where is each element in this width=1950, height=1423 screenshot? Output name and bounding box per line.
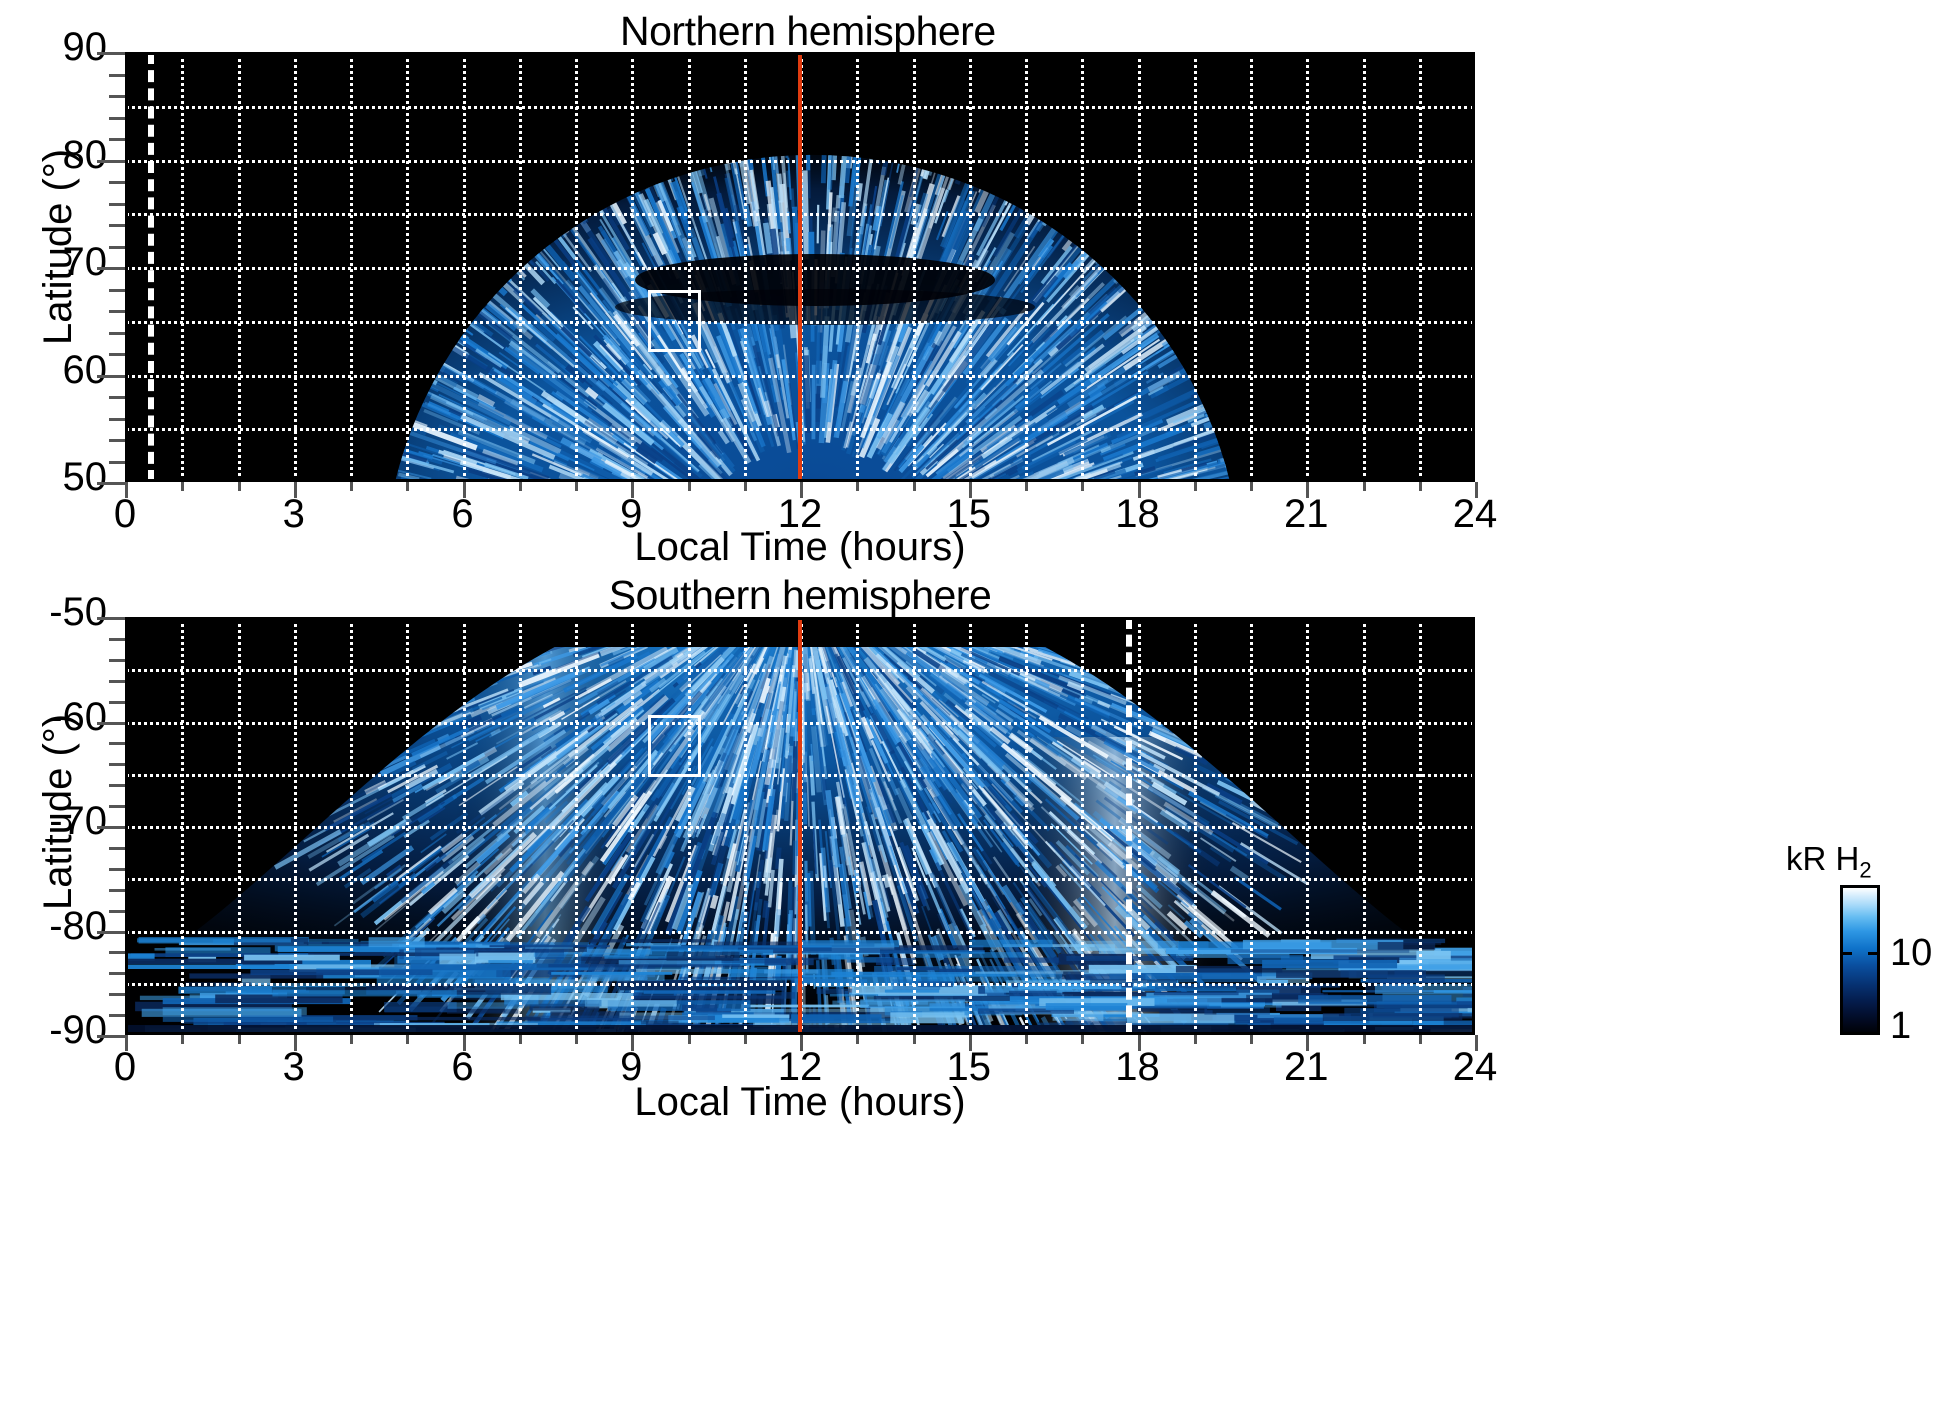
xtick-mark: [913, 1035, 916, 1044]
ytick-label: -50: [0, 590, 107, 635]
xtick-mark: [1419, 482, 1422, 491]
heatmap-south: [125, 617, 1475, 1035]
xtick-mark: [1194, 1035, 1197, 1044]
colorbar-title-subscript: 2: [1859, 858, 1871, 883]
ytick-mark: [109, 289, 125, 292]
ytick-mark: [109, 74, 125, 77]
ytick-mark: [109, 910, 125, 913]
xtick-mark: [969, 482, 972, 498]
ytick-mark: [109, 461, 125, 464]
xtick-mark: [181, 482, 184, 491]
xtick-mark: [1250, 482, 1253, 491]
xtick-label: 0: [65, 492, 185, 537]
ytick-mark: [97, 931, 125, 934]
colorbar-title: kR H2: [1786, 840, 1872, 884]
xtick-mark: [181, 1035, 184, 1044]
xtick-mark: [519, 1035, 522, 1044]
ytick-mark: [109, 784, 125, 787]
ytick-mark: [97, 1035, 125, 1038]
ytick-mark: [109, 332, 125, 335]
colorbar-tick-major: [1840, 952, 1852, 955]
xtick-label: 24: [1415, 1045, 1535, 1090]
xtick-mark: [1025, 482, 1028, 491]
marker-line-dashed-north: [148, 52, 154, 482]
xtick-mark: [631, 1035, 634, 1051]
xtick-label: 3: [234, 492, 354, 537]
xtick-mark: [631, 482, 634, 498]
roi-box-south: [648, 715, 701, 777]
xtick-label: 21: [1246, 1045, 1366, 1090]
xtick-mark: [1081, 482, 1084, 491]
ytick-mark: [109, 353, 125, 356]
ylabel-north: Latitude (°): [36, 149, 81, 345]
colorbar-title-text: kR H: [1786, 840, 1859, 877]
ytick-mark: [97, 722, 125, 725]
xtick-label: 6: [403, 1045, 523, 1090]
ytick-mark: [97, 826, 125, 829]
ylabel-south: Latitude (°): [36, 714, 81, 910]
ytick-label: 60: [0, 348, 107, 393]
xtick-mark: [1138, 482, 1141, 498]
xlabel-south: Local Time (hours): [590, 1080, 1010, 1125]
xtick-mark: [125, 482, 128, 498]
ytick-mark: [109, 889, 125, 892]
xtick-mark: [1475, 1035, 1478, 1051]
xtick-label: 21: [1246, 492, 1366, 537]
xtick-mark: [1025, 1035, 1028, 1044]
xtick-mark: [575, 482, 578, 491]
xtick-label: 18: [1078, 1045, 1198, 1090]
ytick-mark: [109, 868, 125, 871]
xtick-label: 3: [234, 1045, 354, 1090]
xtick-mark: [800, 482, 803, 498]
ytick-mark: [109, 396, 125, 399]
xtick-mark: [125, 1035, 128, 1051]
xtick-mark: [294, 1035, 297, 1051]
xtick-mark: [575, 1035, 578, 1044]
ytick-mark: [109, 224, 125, 227]
xtick-mark: [1419, 1035, 1422, 1044]
ytick-mark: [109, 1014, 125, 1017]
ytick-mark: [109, 847, 125, 850]
marker-line-dashed-south: [1126, 617, 1132, 1035]
roi-box-north: [648, 290, 701, 352]
ytick-mark: [109, 638, 125, 641]
xtick-mark: [1363, 482, 1366, 491]
marker-line-noon-north: [798, 52, 802, 482]
xtick-mark: [406, 1035, 409, 1044]
ytick-mark: [109, 805, 125, 808]
xtick-mark: [688, 1035, 691, 1044]
xtick-mark: [1306, 482, 1309, 498]
ytick-mark: [109, 439, 125, 442]
marker-line-noon-south: [798, 617, 802, 1035]
panel-title-north: Northern hemisphere: [620, 8, 980, 55]
ytick-mark: [109, 95, 125, 98]
colorbar-gradient: [1840, 885, 1880, 1035]
panel-title-south: Southern hemisphere: [600, 572, 1000, 619]
xtick-mark: [350, 482, 353, 491]
xtick-label: 0: [65, 1045, 185, 1090]
xtick-mark: [519, 482, 522, 491]
xtick-mark: [238, 1035, 241, 1044]
xtick-mark: [1475, 482, 1478, 498]
xtick-mark: [913, 482, 916, 491]
xtick-mark: [1250, 1035, 1253, 1044]
ytick-label: -80: [0, 904, 107, 949]
xtick-mark: [1081, 1035, 1084, 1044]
xtick-label: 6: [403, 492, 523, 537]
xtick-mark: [294, 482, 297, 498]
xtick-mark: [350, 1035, 353, 1044]
xtick-mark: [688, 482, 691, 491]
xtick-mark: [744, 1035, 747, 1044]
ytick-mark: [109, 742, 125, 745]
colorbar-tick-label-1: 1: [1890, 1005, 1911, 1048]
xtick-mark: [406, 482, 409, 491]
colorbar-tick-label-10: 10: [1890, 932, 1932, 975]
xtick-mark: [463, 1035, 466, 1051]
xtick-mark: [1194, 482, 1197, 491]
heatmap-north: [125, 52, 1475, 482]
ytick-mark: [97, 267, 125, 270]
ytick-mark: [109, 763, 125, 766]
ytick-label: 90: [0, 25, 107, 70]
ytick-mark: [109, 246, 125, 249]
ytick-mark: [97, 482, 125, 485]
colorbar-tick-major-right: [1868, 952, 1880, 955]
ytick-mark: [109, 972, 125, 975]
xtick-mark: [463, 482, 466, 498]
ytick-mark: [109, 951, 125, 954]
ytick-mark: [109, 117, 125, 120]
xtick-mark: [969, 1035, 972, 1051]
ytick-mark: [109, 701, 125, 704]
ytick-mark: [97, 617, 125, 620]
ytick-mark: [109, 181, 125, 184]
ytick-mark: [109, 310, 125, 313]
xtick-mark: [1363, 1035, 1366, 1044]
ytick-mark: [109, 659, 125, 662]
ytick-mark: [97, 52, 125, 55]
ytick-mark: [109, 203, 125, 206]
ytick-mark: [109, 418, 125, 421]
xtick-mark: [1306, 1035, 1309, 1051]
figure-root: Northern hemisphere: [0, 0, 1950, 1423]
xtick-label: 24: [1415, 492, 1535, 537]
ytick-mark: [109, 680, 125, 683]
xtick-mark: [856, 482, 859, 491]
xlabel-north: Local Time (hours): [590, 525, 1010, 570]
xtick-mark: [744, 482, 747, 491]
ytick-mark: [97, 375, 125, 378]
xtick-mark: [856, 1035, 859, 1044]
xtick-mark: [800, 1035, 803, 1051]
ytick-mark: [97, 160, 125, 163]
xtick-mark: [1138, 1035, 1141, 1051]
xtick-mark: [238, 482, 241, 491]
ytick-mark: [109, 138, 125, 141]
ytick-mark: [109, 993, 125, 996]
xtick-label: 18: [1078, 492, 1198, 537]
